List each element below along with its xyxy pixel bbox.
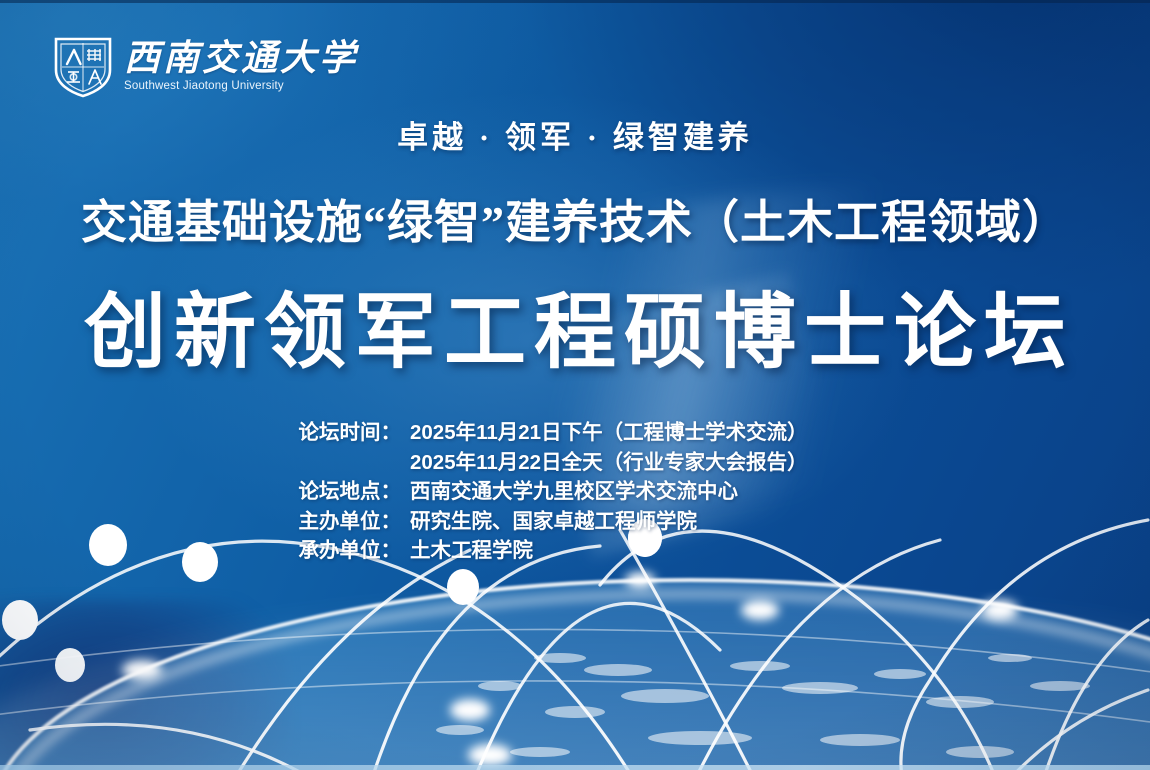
logo-name-cn: 西南交通大学 [124, 40, 358, 76]
university-logo: 西南交通大学 Southwest Jiaotong University [52, 34, 358, 98]
info-row-value: 2025年11月21日下午（工程博士学术交流） [401, 423, 808, 444]
swjtu-shield-emblem [52, 34, 114, 98]
info-row-label: 承办单位： [265, 541, 401, 562]
info-row-label: 论坛地点： [265, 482, 401, 503]
info-row-value: 研究生院、国家卓越工程师学院 [401, 512, 697, 533]
info-row-value: 西南交通大学九里校区学术交流中心 [401, 482, 738, 503]
title-big: 创新领军工程硕博士论坛 [0, 265, 1150, 384]
poster-canvas: 西南交通大学 Southwest Jiaotong University 卓越 … [0, 0, 1150, 770]
info-row: 主办单位：研究生院、国家卓越工程师学院 [265, 512, 885, 533]
info-row: 论坛时间：2025年11月22日全天（行业专家大会报告） [265, 453, 885, 474]
info-row-label: 主办单位： [265, 512, 401, 533]
logo-name-en: Southwest Jiaotong University [124, 81, 284, 93]
info-row: 论坛时间：2025年11月21日下午（工程博士学术交流） [265, 423, 885, 444]
info-row-value: 土木工程学院 [401, 541, 533, 562]
info-row-label: 论坛时间： [265, 423, 401, 444]
tagline: 卓越 · 领军 · 绿智建养 [0, 112, 1150, 157]
info-block: 论坛时间：2025年11月21日下午（工程博士学术交流）论坛时间：2025年11… [0, 423, 1150, 571]
info-row: 论坛地点：西南交通大学九里校区学术交流中心 [265, 482, 885, 503]
title-main: 交通基础设施“绿智”建养技术（土木工程领域） [0, 186, 1150, 252]
info-row-value: 2025年11月22日全天（行业专家大会报告） [401, 453, 808, 474]
info-row: 承办单位：土木工程学院 [265, 541, 885, 562]
